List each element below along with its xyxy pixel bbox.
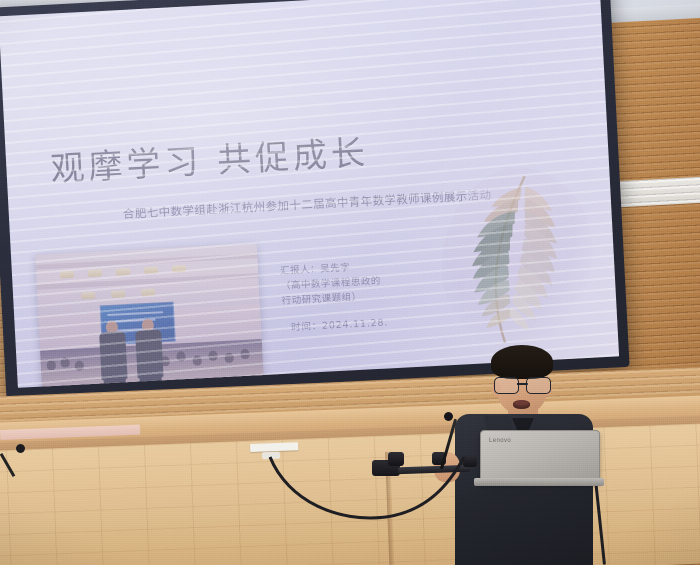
- laptop[interactable]: Lenovo: [480, 430, 600, 484]
- screen-surface: 观摩学习 共促成长 合肥七中数学组赴浙江杭州参加十二届高中青年数学教师课例展示活…: [0, 0, 619, 388]
- presenter-hair: [491, 345, 553, 379]
- laptop-base: [474, 478, 604, 486]
- microphone-left-head: [16, 444, 25, 453]
- feather-icon: [455, 165, 577, 355]
- presenter-mouth: [513, 400, 530, 409]
- slide-subtitle: 合肥七中数学组赴浙江杭州参加十二届高中青年数学教师课例展示活动: [123, 187, 492, 222]
- cable: [268, 455, 498, 525]
- glasses-icon: [494, 377, 551, 392]
- projection-screen[interactable]: 观摩学习 共促成长 合肥七中数学组赴浙江杭州参加十二届高中青年数学教师课例展示活…: [0, 0, 630, 399]
- microphone-head: [444, 412, 453, 421]
- screen-frame: 观摩学习 共促成长 合肥七中数学组赴浙江杭州参加十二届高中青年数学教师课例展示活…: [0, 0, 630, 399]
- slide-title: 观摩学习 共促成长: [49, 125, 370, 191]
- slide-photo-inset: [35, 243, 265, 388]
- slide-date: 时间：2024.11.28.: [291, 314, 389, 333]
- slide-reporter-block: 汇报人：吴先字 （高中数学课程思政的 行动研究课题组）: [280, 259, 382, 309]
- photo-scene: 观摩学习 共促成长 合肥七中数学组赴浙江杭州参加十二届高中青年数学教师课例展示活…: [0, 0, 700, 565]
- laptop-brand-label: Lenovo: [489, 438, 511, 444]
